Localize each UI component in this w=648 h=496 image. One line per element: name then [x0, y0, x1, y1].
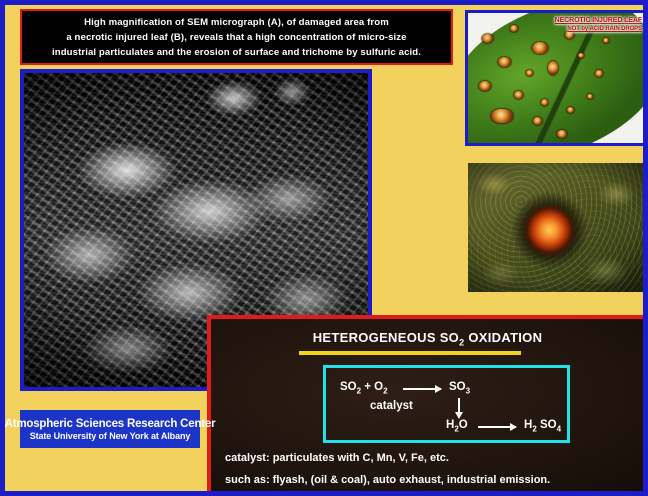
leaf-midrib-vein — [475, 26, 648, 146]
equation-catalyst-label: catalyst — [370, 400, 413, 412]
product-so-sub: 3 — [466, 386, 470, 395]
leaf-lesion-spot — [587, 94, 593, 99]
caption-line-3: industrial particulates and the erosion … — [52, 45, 421, 60]
leaf-lesion-spot — [541, 99, 548, 106]
product-so: SO — [449, 381, 466, 393]
leaf-label-line-2: NOT by ACID RAIN DROPS — [555, 26, 642, 33]
reactant-o-sub: 2 — [383, 386, 387, 395]
equation-reactants: SO2 + O2 — [340, 381, 388, 395]
leaf-lesion-spot — [567, 107, 574, 113]
necrotic-leaf-panel: NECROTIC INJURED LEAF NOT by ACID RAIN D… — [465, 10, 648, 146]
arrow-so3-to-h2o — [458, 398, 460, 413]
leaf-lesion-spot — [491, 109, 513, 123]
leaf-lesion-spot — [479, 81, 491, 91]
leaf-lesion-spot — [532, 42, 548, 54]
water-o: O — [459, 419, 468, 431]
asrc-line-1: Atmospheric Sciences Research Center — [5, 418, 216, 430]
equation-water: H2O — [446, 419, 468, 433]
asrc-line-2: State University of New York at Albany — [30, 431, 191, 441]
chemistry-note-line-1: catalyst: particulates with C, Mn, V, Fe… — [225, 452, 449, 464]
arrow-h2o-to-h2so4 — [478, 426, 516, 428]
reactant-so: SO — [340, 381, 357, 393]
leaf-lesion-spot — [482, 34, 493, 43]
leaf-photo-image: NECROTIC INJURED LEAF NOT by ACID RAIN D… — [468, 13, 645, 143]
acid-so-sub: 4 — [557, 424, 561, 433]
reactant-o: + O — [361, 381, 383, 393]
caption-line-2: a necrotic injured leaf (B), reveals tha… — [66, 30, 406, 45]
leaf-lesion-spot — [514, 91, 523, 99]
leaf-annotation-label: NECROTIC INJURED LEAF NOT by ACID RAIN D… — [555, 17, 642, 33]
asrc-credit-box: Atmospheric Sciences Research Center Sta… — [17, 407, 203, 451]
equation-product-h2so4: H2 SO4 — [524, 419, 561, 433]
chemistry-title: HETEROGENEOUS SO2 OXIDATION — [211, 330, 644, 348]
chemistry-title-prefix: HETEROGENEOUS SO — [313, 330, 459, 345]
caption-box: High magnification of SEM micrograph (A)… — [20, 9, 453, 65]
leaf-lesion-spot — [548, 61, 558, 75]
equation-product-so3: SO3 — [449, 381, 470, 395]
leaf-label-line-1: NECROTIC INJURED LEAF — [555, 17, 642, 25]
acid-so: SO — [537, 419, 557, 431]
chemistry-title-underline — [299, 351, 521, 355]
arrow-reactants-to-so3 — [403, 388, 441, 390]
chemistry-title-suffix: OXIDATION — [464, 330, 542, 345]
poster-root: High magnification of SEM micrograph (A)… — [0, 0, 648, 496]
lesion-vignette-overlay — [468, 163, 645, 292]
chemistry-panel: HETEROGENEOUS SO2 OXIDATION SO2 + O2 SO3… — [207, 315, 648, 496]
chemistry-note-line-2: such as: flyash, (oil & coal), auto exha… — [225, 474, 550, 486]
leaf-lesion-spot — [557, 130, 567, 138]
equation-box: SO2 + O2 SO3 catalyst H2O H2 SO4 — [323, 365, 570, 443]
lesion-closeup-panel — [465, 160, 648, 295]
caption-line-1: High magnification of SEM micrograph (A)… — [84, 15, 389, 30]
leaf-lesion-spot — [603, 38, 609, 43]
